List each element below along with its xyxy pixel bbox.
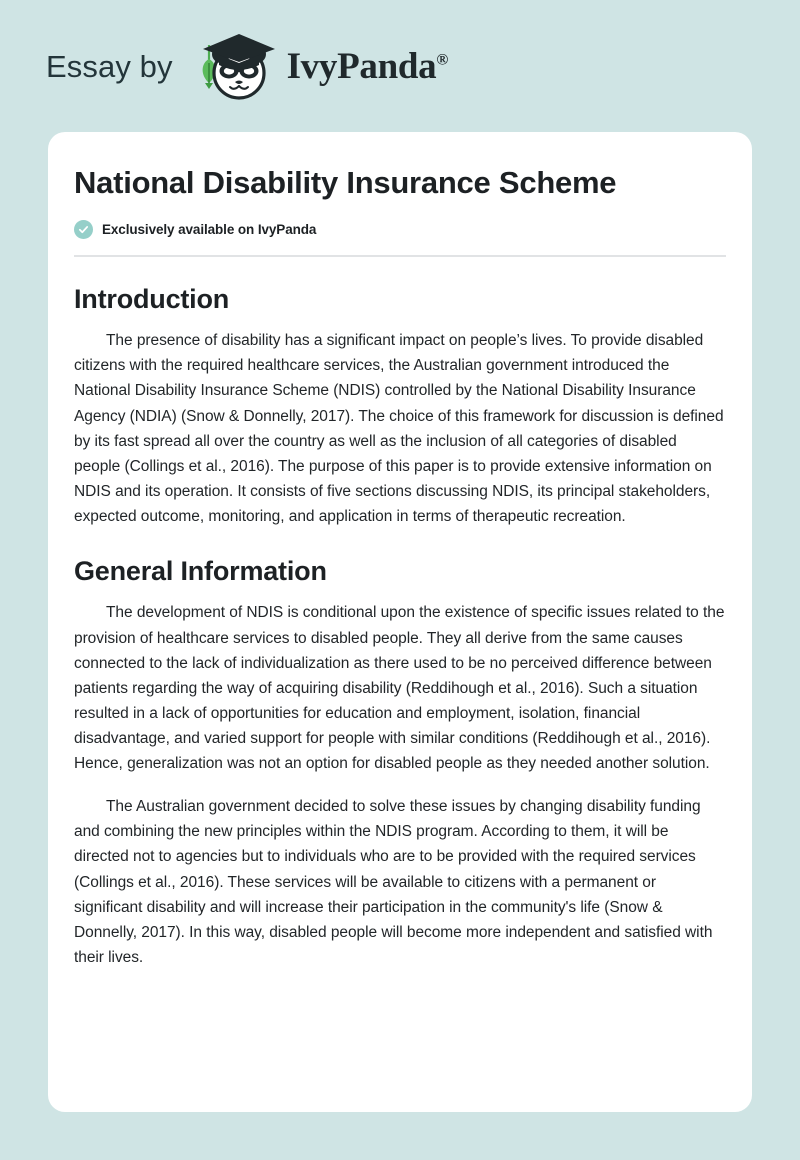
paragraph: The Australian government decided to sol… bbox=[74, 776, 726, 970]
document-content: National Disability Insurance Scheme Exc… bbox=[74, 132, 726, 970]
exclusive-availability-label: Exclusively available on IvyPanda bbox=[102, 223, 316, 237]
check-circle-icon bbox=[74, 220, 93, 239]
section-heading-general-information: General Information bbox=[74, 529, 726, 587]
exclusive-availability-badge: Exclusively available on IvyPanda bbox=[74, 220, 726, 239]
paragraph: The presence of disability has a signifi… bbox=[74, 315, 726, 529]
ivypanda-logo-link[interactable]: IvyPanda® bbox=[189, 29, 448, 103]
brand-name-text: IvyPanda bbox=[287, 46, 437, 87]
document-card: National Disability Insurance Scheme Exc… bbox=[48, 132, 752, 1112]
panda-graduate-logo-icon bbox=[189, 29, 281, 103]
page-title: National Disability Insurance Scheme bbox=[74, 132, 726, 202]
registered-mark: ® bbox=[436, 51, 448, 68]
brand-wordmark: IvyPanda® bbox=[287, 48, 448, 85]
section-heading-introduction: Introduction bbox=[74, 257, 726, 315]
brand-header: Essay by bbox=[0, 0, 800, 132]
essay-by-label: Essay by bbox=[46, 51, 173, 82]
paragraph: The development of NDIS is conditional u… bbox=[74, 587, 726, 776]
